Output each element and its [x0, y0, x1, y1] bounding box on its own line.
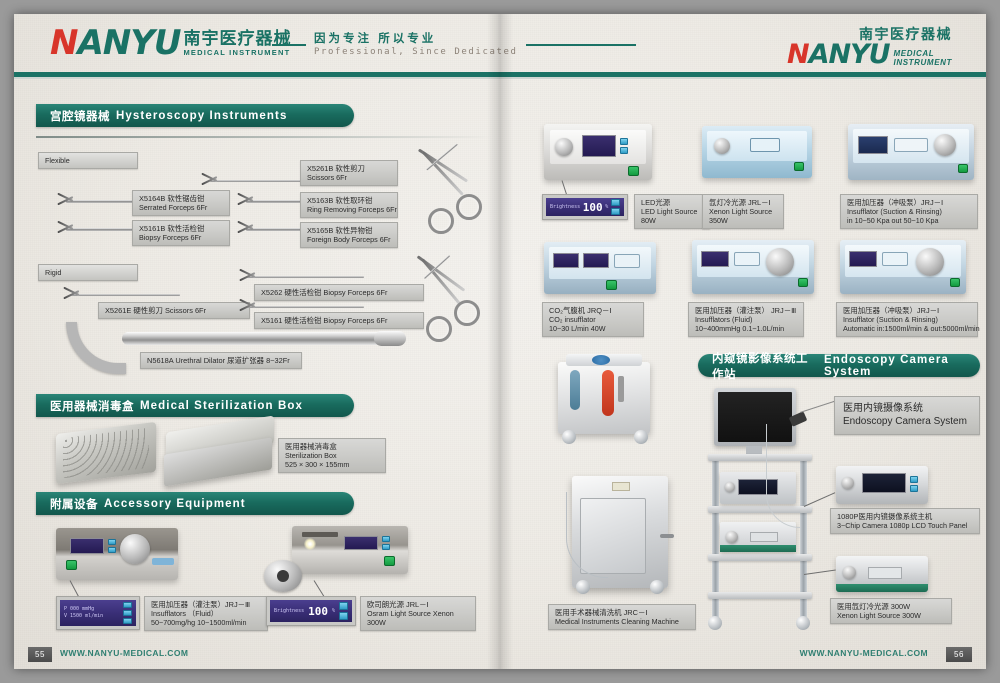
caption-suction-spec: in 10~50 Kpa out 50~10 Kpa — [847, 216, 971, 225]
instrument-scissors-flexible — [210, 180, 302, 182]
caption-fluid-cn: 医用加压器（灌注泵） JRJ－Ⅲ — [695, 306, 797, 315]
product-xenon-light-source — [702, 126, 812, 178]
section-banner-accessory: 附属设备 Accessory Equipment — [36, 492, 354, 515]
product-co2-insufflator — [544, 242, 656, 294]
insufflator-lcd-line1: P 000 mmHg — [64, 606, 103, 613]
caption-x5165b-cn: X5165B 软性异物钳 — [307, 226, 391, 235]
trolley-xenon-green-strip — [836, 584, 928, 592]
section-banner-hysteroscopy: 宫腔镜器械 Hysteroscopy Instruments — [36, 104, 354, 127]
caption-osram-cn: 欧司朗光源 JRL－Ⅰ — [367, 600, 469, 609]
light-source-port[interactable] — [726, 531, 738, 543]
caption-x5261b-en: Scissors 6Fr — [307, 173, 391, 182]
product-cleaning-cart-upper — [558, 362, 650, 434]
caption-trolley-xenon-en: Xenon Light Source 300W — [837, 611, 945, 620]
osram-display — [344, 536, 378, 550]
caption-insufflator-suction: 医用加压器（冲吸泵）JRJ－Ⅰ Insufflator (Suction & R… — [840, 194, 978, 229]
osram-brand-strip — [302, 532, 338, 537]
trolley-caster-right — [796, 616, 810, 630]
caption-xenon-spec: 350W — [709, 216, 777, 225]
caption-x5165b: X5165B 软性异物钳 Foreign Body Forceps 6Fr — [300, 222, 398, 248]
led-lcd-buttons — [611, 199, 620, 215]
caption-co2-spec: 10~30 L/min 40W — [549, 324, 637, 333]
caption-xenon-en: Xenon Light Source — [709, 207, 777, 216]
caption-insufflator-automatic: 医用加压器（冲吸泵）JRJ－Ⅰ Insufflator (Suction & R… — [836, 302, 978, 337]
automatic-pump-head[interactable] — [916, 248, 944, 276]
osram-power-button[interactable] — [384, 556, 395, 566]
slogan-dash-right-icon — [526, 44, 636, 46]
caption-x5262-text: X5262 硬性活检钳 Biopsy Forceps 6Fr — [261, 288, 417, 297]
product-trolley-xenon — [836, 556, 928, 592]
insufflator-lcd-btn-2[interactable] — [123, 610, 132, 616]
caption-x5161-text: X5161 硬性活检钳 Biopsy Forceps 6Fr — [261, 316, 417, 325]
caption-suction-cn: 医用加压器（冲吸泵）JRJ－Ⅰ — [847, 198, 971, 207]
section-divider-hysteroscopy — [36, 136, 491, 138]
caption-camera-system: 医用内镜摄像系统 Endoscopy Camera System — [834, 396, 980, 435]
led-lcd-btn-up[interactable] — [611, 199, 620, 206]
suction-keypad — [894, 138, 928, 152]
trolley-caster-left — [708, 616, 722, 630]
instrument-rigid-scissors — [70, 294, 180, 296]
brand-wordmark: NANYU — [50, 28, 180, 58]
insufflator-pump-button-2[interactable] — [108, 547, 116, 553]
trolley-shelf-4 — [708, 592, 812, 599]
instrument-scissors-handle-illustration — [410, 154, 500, 244]
caption-sterilization-box: 医用器械消毒盒 Sterilization Box 525 × 300 × 15… — [278, 438, 386, 473]
section-banner-camera-cn: 内窥镜影像系统工作站 — [712, 350, 818, 382]
insufflator-pump-body — [56, 528, 178, 580]
led-lcd-btn-down[interactable] — [611, 208, 620, 215]
instrument-biopsy-handle-illustration — [410, 266, 500, 356]
page-footer: 55 WWW.NANYU-MEDICAL.COM WWW.NANYU-MEDIC… — [14, 643, 986, 669]
fluid-power-button[interactable] — [798, 278, 808, 287]
product-osram-light-source — [292, 526, 408, 574]
caption-osram: 欧司朗光源 JRL－Ⅰ Osram Light Source Xenon 300… — [360, 596, 476, 631]
insufflator-lcd-line2: V 1500 ml/min — [64, 613, 103, 620]
caption-x5262: X5262 硬性活检钳 Biopsy Forceps 6Fr — [254, 284, 424, 301]
cleaning-cart-caster-right — [634, 430, 648, 444]
brand-wordmark-rest: ANYU — [77, 23, 180, 63]
automatic-keypad — [882, 252, 908, 266]
led-lcd-label: Brightness — [550, 204, 580, 211]
insufflator-pump-display — [70, 538, 104, 554]
fluid-roller-pump-head[interactable] — [766, 248, 794, 276]
brand-right-english-line2: INSTRUMENT — [894, 58, 952, 67]
caption-led-cn: LED光源 — [641, 198, 703, 207]
light-source-panel — [750, 532, 778, 542]
product-camera-host — [836, 466, 928, 504]
osram-lcd-screen: Brightness 100 % — [270, 600, 352, 622]
instrument-rigid-biopsy-2 — [246, 306, 364, 308]
caption-x5163b-cn: X5163B 软性取环钳 — [307, 196, 391, 205]
osram-lcd-readouts: Brightness — [274, 608, 304, 615]
caption-x5161b-en: Biopsy Forceps 6Fr — [139, 233, 223, 242]
brand-right-english-line1: MEDICAL — [894, 49, 952, 58]
caption-osram-en: Osram Light Source Xenon — [367, 609, 469, 618]
osram-lcd-buttons — [339, 602, 348, 620]
caption-sterilization-size: 525 × 300 × 155mm — [285, 460, 379, 469]
osram-lamp-aperture-icon — [277, 570, 289, 582]
osram-lcd-label: Brightness — [274, 608, 304, 615]
cleaning-cart-logo-icon — [592, 355, 610, 365]
light-source-green-strip — [720, 545, 796, 552]
led-button-down[interactable] — [620, 147, 628, 154]
product-led-light-source — [544, 124, 652, 180]
osram-lcd-value: 100 — [308, 605, 328, 618]
osram-button-up[interactable] — [382, 536, 390, 542]
caption-insufflator-cn: 医用加压器（灌注泵）JRJ－Ⅲ — [151, 600, 261, 609]
brand-right-english: MEDICAL INSTRUMENT — [894, 49, 952, 67]
caption-x5161: X5161 硬性活检钳 Biopsy Forceps 6Fr — [254, 312, 424, 329]
product-insufflator-suction-rinsing — [848, 124, 974, 180]
camera-host-knob[interactable] — [725, 482, 735, 492]
camera-host-btn-2[interactable] — [910, 485, 918, 492]
product-insufflator-automatic — [840, 240, 966, 294]
footer-url-right[interactable]: WWW.NANYU-MEDICAL.COM — [800, 648, 928, 658]
instrument-urethral-dilator-curve — [66, 322, 126, 374]
brand-right-wordmark: NANYU — [787, 42, 890, 67]
osram-lcd-unit: % — [332, 608, 335, 615]
led-power-button[interactable] — [628, 166, 639, 176]
leader-line-camera-host — [804, 492, 835, 507]
caption-x5261e-text: X5261E 硬性剪刀 Scissors 6Fr — [105, 306, 243, 315]
caption-camera-system-en: Endoscopy Camera System — [843, 416, 971, 429]
caption-automatic-cn: 医用加压器（冲吸泵）JRJ－Ⅰ — [843, 306, 971, 315]
slogan-text: 因为专注 所以专业 Professional, Since Dedicated — [314, 32, 518, 58]
suction-display — [858, 136, 888, 154]
caption-xenon-cn: 氙灯冷光源 JRL－Ⅰ — [709, 198, 777, 207]
insufflator-lcd-screen: P 000 mmHg V 1500 ml/min — [60, 600, 136, 626]
instrument-rigid-biopsy-1 — [246, 276, 364, 278]
cleaning-machine-label — [612, 482, 630, 491]
product-sterilization-box-closed — [56, 422, 156, 484]
section-banner-sterilization-en: Medical Sterilization Box — [140, 400, 303, 412]
tag-rigid-label: Rigid — [45, 268, 131, 277]
caption-x5163b-en: Ring Removing Forceps 6Fr — [307, 205, 391, 214]
catalog-page: NANYU 南宇医疗器械 MEDICAL INSTRUMENT 因为专注 所以专… — [0, 0, 1000, 683]
caption-xenon-light-source: 氙灯冷光源 JRL－Ⅰ Xenon Light Source 350W — [702, 194, 784, 229]
section-banner-sterilization-cn: 医用器械消毒盒 — [50, 398, 134, 414]
insufflator-lcd-readouts: P 000 mmHg V 1500 ml/min — [64, 606, 103, 620]
caption-trolley-xenon: 医用氙灯冷光源 300W Xenon Light Source 300W — [830, 598, 952, 624]
caption-automatic-en: Insufflator (Suction & Rinsing) — [843, 315, 971, 324]
suction-rotary-knob[interactable] — [934, 134, 956, 156]
biopsy-ring-1-icon — [426, 316, 452, 342]
insufflator-lcd-btn-3[interactable] — [123, 618, 132, 624]
insufflator-pump-knob[interactable] — [120, 534, 150, 564]
brand-wordmark-n: N — [50, 23, 77, 63]
led-lcd-value: 100 — [583, 201, 603, 214]
caption-fluid-en: Insufflators (Fluid) — [695, 315, 797, 324]
caption-x5161b-cn: X5161B 软性活检钳 — [139, 224, 223, 233]
caption-cleaning-cn: 医用手术器械清洗机 JRC－Ⅰ — [555, 608, 689, 617]
footer-url-left[interactable]: WWW.NANYU-MEDICAL.COM — [60, 648, 188, 658]
caption-insufflator-fluid-right: 医用加压器（灌注泵） JRJ－Ⅲ Insufflators (Fluid) 10… — [688, 302, 804, 337]
caption-suction-en: Insufflator (Suction & Rinsing) — [847, 207, 971, 216]
co2-display-2 — [583, 253, 609, 268]
section-banner-sterilization: 医用器械消毒盒 Medical Sterilization Box — [36, 394, 354, 417]
caption-x5161b: X5161B 软性活检钳 Biopsy Forceps 6Fr — [132, 220, 230, 246]
brand-right-wordmark-n: N — [787, 39, 809, 70]
slogan-chinese: 因为专注 所以专业 — [314, 32, 518, 46]
caption-co2-cn: CO₂气腹机 JRQ－Ⅰ — [549, 306, 637, 315]
insufflator-lcd-buttons — [123, 602, 132, 624]
caption-x5261b-cn: X5261B 软性剪刀 — [307, 164, 391, 173]
brand-right-wordmark-rest: ANYU — [809, 39, 890, 70]
tag-rigid: Rigid — [38, 264, 138, 281]
caption-insufflator-spec: 50~700mg/hg 10~1500ml/min — [151, 618, 261, 627]
caption-camera-host-cn: 1080P医用内镜摄像系统主机 — [837, 512, 973, 521]
caption-camera-host: 1080P医用内镜摄像系统主机 3~Chip Camera 1080p LCD … — [830, 508, 980, 534]
caption-cleaning-machine: 医用手术器械清洗机 JRC－Ⅰ Medical Instruments Clea… — [548, 604, 696, 630]
caption-n5618a-text: N5618A Urethral Dilator 尿道扩张器 8~32Fr — [147, 356, 295, 365]
caption-x5165b-en: Foreign Body Forceps 6Fr — [307, 235, 391, 244]
caption-x5164b-cn: X5164B 软性锯齿钳 — [139, 194, 223, 203]
slogan-dash-left-icon — [272, 44, 306, 46]
osram-light-glow-icon — [304, 538, 316, 550]
caption-x5261e: X5261E 硬性剪刀 Scissors 6Fr — [98, 302, 250, 319]
light-guide-cable — [766, 424, 800, 528]
caption-led-spec: 80W — [641, 216, 703, 225]
osram-lcd-btn-up[interactable] — [339, 602, 348, 610]
insufflator-pump-button-1[interactable] — [108, 539, 116, 545]
caption-x5164b-en: Serrated Forceps 6Fr — [139, 203, 223, 212]
led-lcd-unit: % — [605, 204, 608, 211]
xenon-power-button[interactable] — [794, 162, 804, 171]
brand-right-row: NANYU MEDICAL INSTRUMENT — [787, 42, 952, 67]
callout-insufflator-lcd: P 000 mmHg V 1500 ml/min — [56, 596, 140, 630]
cleaning-machine-caster-right — [650, 580, 664, 594]
caption-led-light-source: LED光源 LED Light Source 80W — [634, 194, 710, 229]
biopsy-ring-2-icon — [454, 300, 480, 326]
osram-lcd-btn-down[interactable] — [339, 612, 348, 620]
monitor-stand — [746, 446, 762, 454]
trolley-light-source — [720, 522, 796, 552]
caption-cleaning-en: Medical Instruments Cleaning Machine — [555, 617, 689, 626]
caption-sterilization-en: Sterilization Box — [285, 451, 379, 460]
led-knob[interactable] — [555, 138, 573, 156]
caption-camera-host-en: 3~Chip Camera 1080p LCD Touch Panel — [837, 521, 973, 530]
led-lcd-screen: Brightness 100 % — [546, 198, 624, 216]
osram-lamp-module — [264, 560, 302, 592]
cleaning-cart-red-hose — [602, 370, 614, 416]
section-banner-hysteroscopy-en: Hysteroscopy Instruments — [116, 110, 287, 122]
leader-line-trolley-xenon — [804, 570, 836, 575]
page-number-right: 56 — [946, 647, 972, 662]
scissors-ring-2-icon — [456, 194, 482, 220]
caption-insufflator-fluid: 医用加压器（灌注泵）JRJ－Ⅲ Insufflators （Fluid） 50~… — [144, 596, 268, 631]
suction-power-button[interactable] — [958, 164, 968, 173]
co2-power-button[interactable] — [606, 280, 617, 290]
cleaning-machine-caster-left — [576, 580, 590, 594]
sterilization-box-perforations — [63, 428, 149, 479]
insufflator-pump-tube-connector — [152, 558, 174, 565]
insufflator-pump-power-button[interactable] — [66, 560, 77, 570]
caption-x5164b: X5164B 软性锯齿钳 Serrated Forceps 6Fr — [132, 190, 230, 216]
trolley-xenon-port[interactable] — [843, 566, 856, 579]
section-banner-camera: 内窥镜影像系统工作站 Endoscopy Camera System — [698, 354, 980, 377]
caption-osram-spec: 300W — [367, 618, 469, 627]
product-insufflator-fluid — [692, 240, 814, 294]
caption-insufflator-en: Insufflators （Fluid） — [151, 609, 261, 618]
section-banner-accessory-en: Accessory Equipment — [104, 498, 246, 510]
cleaning-machine-handle[interactable] — [660, 534, 674, 538]
cleaning-cart-hose-coiled — [570, 370, 580, 410]
trolley-xenon-panel — [868, 567, 902, 579]
caption-automatic-spec: Automatic in:1500ml/min & out:5000ml/min — [843, 324, 971, 333]
leader-line-camera-head — [800, 401, 835, 413]
scissors-ring-1-icon — [428, 208, 454, 234]
osram-button-down[interactable] — [382, 544, 390, 550]
instrument-urethral-dilator-tip — [374, 331, 406, 346]
catalog-spread: NANYU 南宇医疗器械 MEDICAL INSTRUMENT 因为专注 所以专… — [14, 14, 986, 669]
cleaning-cart-caster-left — [562, 430, 576, 444]
caption-x5261b: X5261B 软性剪刀 Scissors 6Fr — [300, 160, 398, 186]
tag-flexible-label: Flexible — [45, 156, 131, 165]
caption-camera-system-cn: 医用内镜摄像系统 — [843, 403, 971, 416]
product-insufflator-pump — [56, 528, 178, 580]
caption-sterilization-cn: 医用器械消毒盒 — [285, 442, 379, 451]
trolley-shelf-3 — [708, 554, 812, 561]
xenon-connector-port — [714, 138, 730, 154]
section-banner-camera-en: Endoscopy Camera System — [824, 354, 980, 378]
slogan-english: Professional, Since Dedicated — [314, 46, 518, 58]
fluid-display — [701, 251, 729, 267]
caption-co2-en: CO₂ insufflator — [549, 315, 637, 324]
tag-flexible: Flexible — [38, 152, 138, 169]
brand-slogan: 因为专注 所以专业 Professional, Since Dedicated — [272, 32, 636, 58]
callout-osram-lcd: Brightness 100 % — [266, 596, 356, 626]
brand-logo-left: NANYU 南宇医疗器械 MEDICAL INSTRUMENT — [50, 28, 291, 58]
led-display — [582, 135, 616, 157]
cleaning-cart-spray-gun — [618, 376, 624, 402]
automatic-power-button[interactable] — [950, 278, 960, 287]
caption-led-en: LED Light Source — [641, 207, 703, 216]
page-header: NANYU 南宇医疗器械 MEDICAL INSTRUMENT 因为专注 所以专… — [14, 14, 986, 76]
insufflator-lcd-btn-1[interactable] — [123, 602, 132, 608]
section-banner-accessory-cn: 附属设备 — [50, 496, 98, 512]
brand-logo-right: 南宇医疗器械 NANYU MEDICAL INSTRUMENT — [787, 26, 952, 67]
automatic-display — [849, 251, 877, 267]
xenon-control-panel — [750, 138, 780, 152]
callout-led-lcd: Brightness 100 % — [542, 194, 628, 220]
caption-fluid-spec: 10~400mmHg 0.1~1.0L/min — [695, 324, 797, 333]
camera-host-touch-panel[interactable] — [862, 473, 906, 493]
section-banner-hysteroscopy-cn: 宫腔镜器械 — [50, 108, 110, 124]
led-button-up[interactable] — [620, 138, 628, 145]
caption-n5618a: N5618A Urethral Dilator 尿道扩张器 8~32Fr — [140, 352, 302, 369]
caption-trolley-xenon-cn: 医用氙灯冷光源 300W — [837, 602, 945, 611]
co2-display-1 — [553, 253, 579, 268]
co2-keypad — [614, 254, 640, 268]
page-number-left: 55 — [28, 647, 52, 662]
caption-x5163b: X5163B 软性取环钳 Ring Removing Forceps 6Fr — [300, 192, 398, 218]
camera-host-btn-1[interactable] — [910, 476, 918, 483]
instrument-urethral-dilator-shaft — [122, 332, 384, 345]
header-rule-secondary — [14, 77, 986, 79]
fluid-keypad — [734, 252, 760, 266]
caption-co2-insufflator: CO₂气腹机 JRQ－Ⅰ CO₂ insufflator 10~30 L/min… — [542, 302, 644, 337]
camera-host-port[interactable] — [842, 477, 854, 489]
